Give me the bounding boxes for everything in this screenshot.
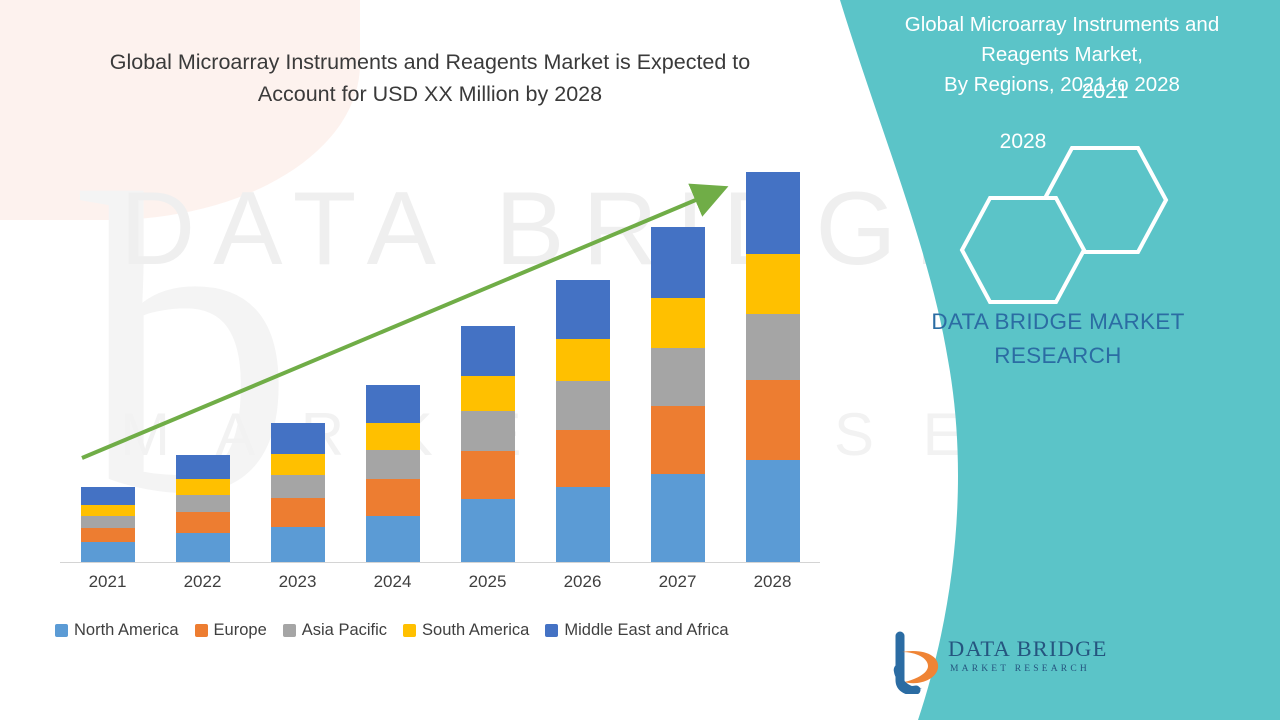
bar-group xyxy=(366,385,420,562)
legend-label: Middle East and Africa xyxy=(564,621,728,640)
bar-segment xyxy=(651,474,705,562)
bar-segment xyxy=(366,516,420,562)
x-axis-tick-label: 2022 xyxy=(155,572,251,592)
bar-segment xyxy=(461,376,515,411)
legend-swatch-icon xyxy=(283,624,296,637)
x-axis-tick-label: 2023 xyxy=(250,572,346,592)
bar-segment xyxy=(746,460,800,562)
bar-segment xyxy=(271,527,325,562)
legend-item[interactable]: Middle East and Africa xyxy=(545,621,728,640)
bar-segment xyxy=(366,423,420,449)
bar-segment xyxy=(461,451,515,499)
bar-segment xyxy=(81,505,135,516)
legend-swatch-icon xyxy=(545,624,558,637)
hexagon-2028-label: 2028 xyxy=(958,130,1088,250)
bar-group xyxy=(176,455,230,562)
legend-label: South America xyxy=(422,621,529,640)
bar-segment xyxy=(271,423,325,454)
logo-mark-icon xyxy=(890,630,946,694)
legend-label: North America xyxy=(74,621,179,640)
x-axis-labels: 20212022202320242025202620272028 xyxy=(60,572,820,604)
bar-segment xyxy=(746,172,800,254)
legend-swatch-icon xyxy=(403,624,416,637)
bar-group xyxy=(461,326,515,562)
bar-segment xyxy=(81,487,135,505)
x-axis-tick-label: 2026 xyxy=(535,572,631,592)
bar-segment xyxy=(746,254,800,315)
bar-segment xyxy=(366,385,420,424)
bar-segment xyxy=(461,499,515,562)
bar-segment xyxy=(81,542,135,562)
x-axis-tick-label: 2021 xyxy=(60,572,156,592)
bar-segment xyxy=(271,454,325,475)
bar-segment xyxy=(176,455,230,479)
brand-line-2: RESEARCH xyxy=(858,339,1258,373)
bar-segment xyxy=(81,528,135,542)
bar-segment xyxy=(651,406,705,474)
bar-segment xyxy=(556,430,610,487)
brand-line-1: DATA BRIDGE MARKET xyxy=(858,305,1258,339)
bar-segment xyxy=(176,512,230,533)
bar-segment xyxy=(461,411,515,451)
x-axis-line xyxy=(60,562,820,563)
bar-segment xyxy=(366,450,420,480)
company-logo: DATA BRIDGE MARKET RESEARCH xyxy=(890,630,1120,702)
bar-segment xyxy=(556,339,610,381)
branding-panel: Global Microarray Instruments and Reagen… xyxy=(840,0,1280,720)
x-axis-tick-label: 2025 xyxy=(440,572,536,592)
logo-subtitle: MARKET RESEARCH xyxy=(950,664,1090,674)
legend-item[interactable]: South America xyxy=(403,621,529,640)
logo-title: DATA BRIDGE xyxy=(948,636,1108,662)
bar-group xyxy=(651,227,705,562)
bar-segment xyxy=(271,498,325,527)
legend-item[interactable]: Asia Pacific xyxy=(283,621,387,640)
chart-legend: North AmericaEuropeAsia PacificSouth Ame… xyxy=(55,616,855,644)
bar-group xyxy=(81,487,135,562)
bar-group xyxy=(746,172,800,562)
bar-segment xyxy=(556,280,610,339)
bar-group xyxy=(556,280,610,562)
bar-segment xyxy=(176,479,230,494)
panel-title-line: Global Microarray Instruments and Reagen… xyxy=(862,10,1262,70)
legend-item[interactable]: Europe xyxy=(195,621,267,640)
x-axis-tick-label: 2024 xyxy=(345,572,441,592)
bar-segment xyxy=(81,516,135,528)
bar-segment xyxy=(366,479,420,515)
legend-swatch-icon xyxy=(195,624,208,637)
bar-segment xyxy=(176,533,230,562)
chart-title: Global Microarray Instruments and Reagen… xyxy=(90,46,770,110)
bar-segment xyxy=(651,227,705,298)
brand-name: DATA BRIDGE MARKET RESEARCH xyxy=(858,305,1258,373)
bar-segment xyxy=(461,326,515,376)
bar-segment xyxy=(556,381,610,429)
bar-segment xyxy=(746,380,800,459)
x-axis-tick-label: 2027 xyxy=(630,572,726,592)
bar-segment xyxy=(176,495,230,513)
legend-label: Europe xyxy=(214,621,267,640)
bar-segment xyxy=(746,314,800,380)
x-axis-tick-label: 2028 xyxy=(725,572,821,592)
bar-group xyxy=(271,423,325,562)
legend-item[interactable]: North America xyxy=(55,621,179,640)
bar-chart-plot xyxy=(60,150,820,562)
legend-swatch-icon xyxy=(55,624,68,637)
bar-segment xyxy=(651,348,705,405)
legend-label: Asia Pacific xyxy=(302,621,387,640)
bar-segment xyxy=(651,298,705,349)
bar-segment xyxy=(556,487,610,562)
bar-segment xyxy=(271,475,325,498)
